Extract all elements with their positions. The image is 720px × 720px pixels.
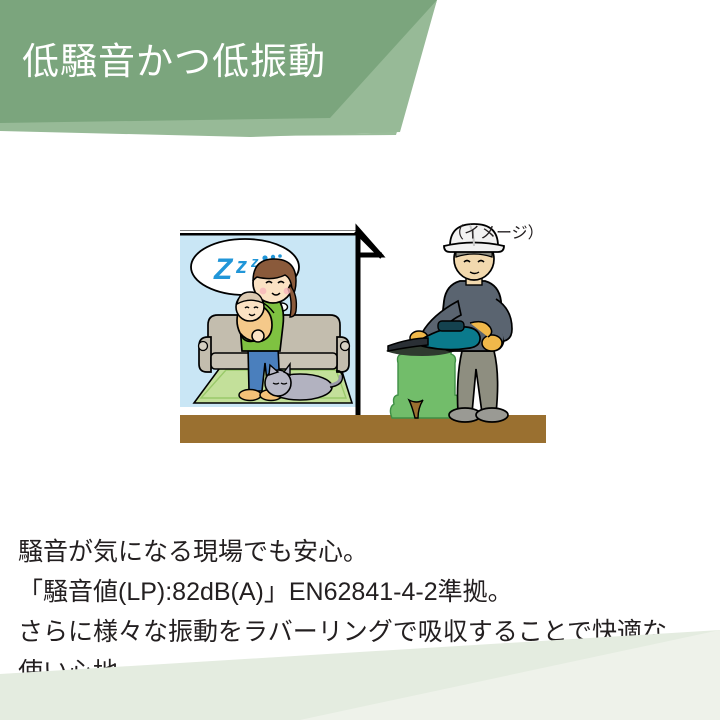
hedge-trimmer-tool [388, 321, 492, 351]
image-caption: （イメージ） [448, 219, 544, 243]
body-line-1: 騒音が気になる現場でも安心。 [18, 532, 708, 572]
body-line-4: 使い心地。 [18, 652, 708, 692]
body-text-block: 騒音が気になる現場でも安心。 「騒音値(LP):82dB(A)」EN62841-… [18, 532, 708, 692]
svg-text:z: z [235, 253, 247, 278]
zzz-text: Z [213, 253, 234, 286]
body-line-3: さらに様々な振動をラバーリングで吸収することで快適な [18, 612, 708, 652]
slide-page: 低騒音かつ低振動 [0, 0, 720, 720]
product-illustration: Z z z [170, 215, 570, 450]
body-line-2: 「騒音値(LP):82dB(A)」EN62841-4-2準拠。 [18, 572, 708, 612]
page-title: 低騒音かつ低振動 [22, 38, 326, 86]
hedge-shrub [390, 346, 462, 418]
illustration-svg: Z z z [170, 215, 570, 450]
